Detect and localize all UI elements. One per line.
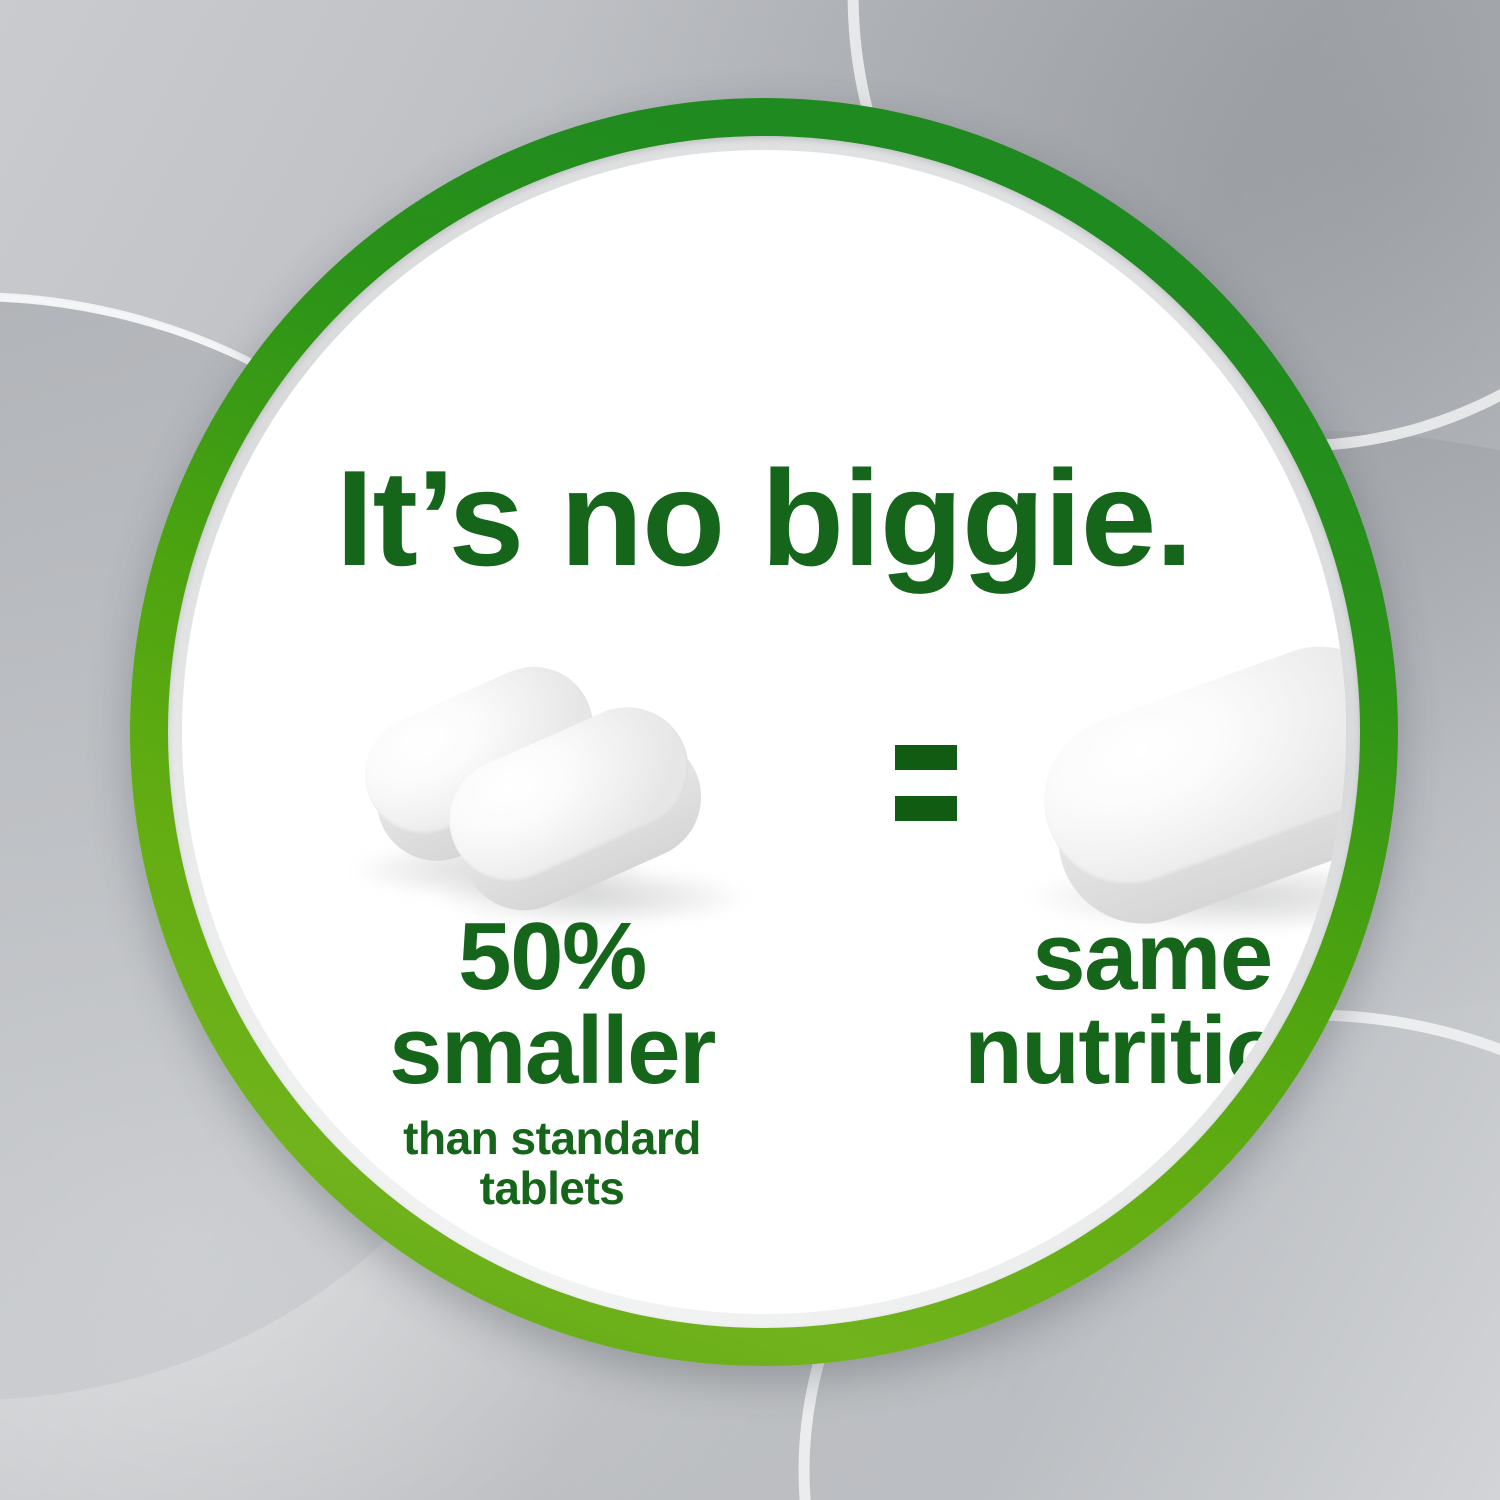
right-claim-label: same nutrition [872, 910, 1346, 1098]
comparison-row [182, 650, 1346, 910]
left-claim-label: 50% smaller than standard tablets [312, 910, 792, 1214]
green-ring: It’s no biggie. [130, 98, 1398, 1366]
badge-content-area: It’s no biggie. [182, 150, 1346, 1314]
right-claim-line1: same [872, 910, 1346, 1004]
page-title: It’s no biggie. [182, 450, 1346, 586]
equals-icon [895, 745, 957, 821]
left-claim-subtext-line2: tablets [312, 1164, 792, 1214]
left-claim-percent: 50% [312, 910, 792, 1004]
product-claim-graphic: It’s no biggie. [0, 0, 1500, 1500]
left-claim-subtext-line1: than standard [312, 1114, 792, 1164]
right-claim-line2: nutrition [872, 1004, 1346, 1098]
left-claim-word: smaller [312, 1004, 792, 1098]
